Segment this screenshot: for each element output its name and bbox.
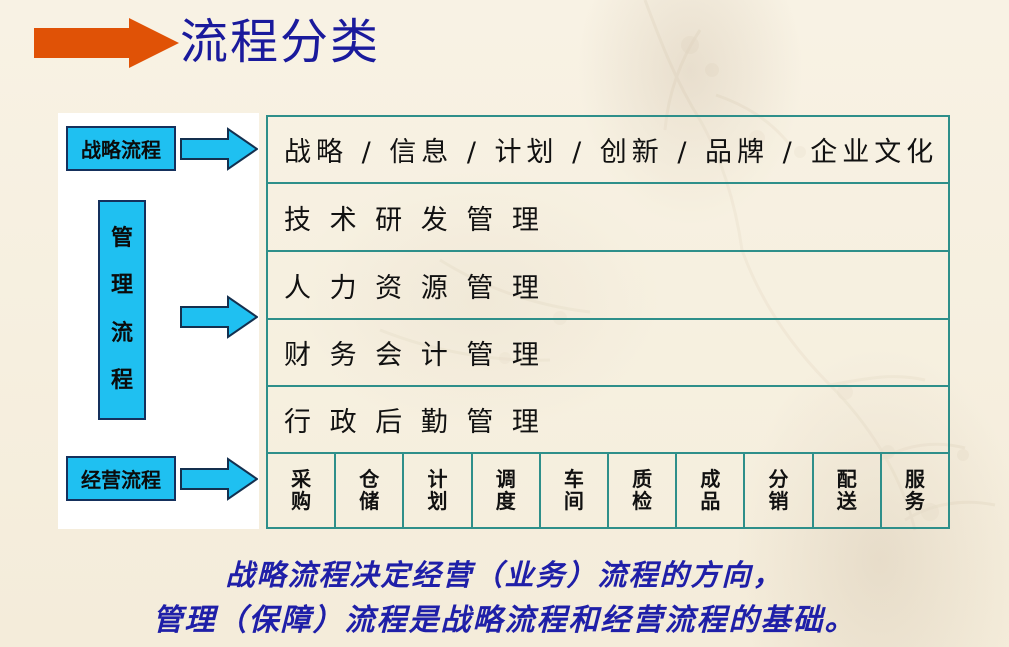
ops-cell-char-top: 车: [564, 469, 584, 491]
caption-line-2: 管理（保障）流程是战略流程和经营流程的基础。: [0, 598, 1009, 644]
ops-cell-char-bottom: 检: [632, 491, 652, 513]
ops-cell-char-bottom: 品: [700, 491, 720, 513]
ops-cell-char-bottom: 划: [428, 491, 448, 513]
ops-cell-char-bottom: 购: [291, 491, 311, 513]
table-row: 战略 / 信息 / 计划 / 创新 / 品牌 / 企业文化: [268, 117, 948, 184]
management-char-4: 程: [111, 370, 133, 392]
ops-cell-char-bottom: 间: [564, 491, 584, 513]
management-char-1: 管: [111, 228, 133, 250]
management-char-3: 流: [111, 323, 133, 345]
ops-cell-char-top: 质: [632, 469, 652, 491]
ops-cell-char-top: 服: [905, 469, 925, 491]
management-char-2: 理: [111, 275, 133, 297]
table-row: 技 术 研 发 管 理: [268, 184, 948, 252]
table-row-label: 财 务 会 计 管 理: [284, 333, 544, 372]
ops-cell-char-bottom: 销: [769, 491, 789, 513]
slide-caption: 战略流程决定经营（业务）流程的方向， 管理（保障）流程是战略流程和经营流程的基础…: [0, 552, 1009, 644]
table-row-label: 人 力 资 源 管 理: [284, 266, 544, 305]
strategy-right-arrow-icon: [180, 127, 258, 171]
ops-cell-char-top: 调: [496, 469, 516, 491]
ops-cell[interactable]: 采 购: [268, 454, 336, 527]
caption-line-1: 战略流程决定经营（业务）流程的方向，: [0, 552, 1009, 598]
table-row-label: 战略 / 信息 / 计划 / 创新 / 品牌 / 企业文化: [284, 130, 938, 169]
table-row: 人 力 资 源 管 理: [268, 252, 948, 320]
ops-cell[interactable]: 配 送: [814, 454, 882, 527]
table-row-label: 技 术 研 发 管 理: [284, 198, 544, 237]
ops-cell-char-top: 计: [428, 469, 448, 491]
ops-cell[interactable]: 仓 储: [336, 454, 404, 527]
process-table: 战略 / 信息 / 计划 / 创新 / 品牌 / 企业文化 技 术 研 发 管 …: [266, 115, 950, 529]
strategy-process-box[interactable]: 战略流程: [66, 126, 176, 171]
ops-cell[interactable]: 调 度: [473, 454, 541, 527]
management-right-arrow-icon: [180, 295, 258, 339]
table-row: 行 政 后 勤 管 理: [268, 387, 948, 454]
ops-cell-char-bottom: 储: [359, 491, 379, 513]
table-row-label: 行 政 后 勤 管 理: [284, 400, 544, 439]
ops-cell[interactable]: 服 务: [882, 454, 948, 527]
page-title: 流程分类: [180, 5, 380, 79]
management-process-box[interactable]: 管 理 流 程: [98, 200, 146, 420]
orange-right-arrow-icon: [34, 18, 179, 68]
business-right-arrow-icon: [180, 457, 258, 501]
slide-header: 流程分类: [0, 0, 1009, 92]
ops-cell[interactable]: 车 间: [541, 454, 609, 527]
table-row: 财 务 会 计 管 理: [268, 320, 948, 387]
ops-cell[interactable]: 成 品: [677, 454, 745, 527]
ops-cell-char-top: 分: [769, 469, 789, 491]
ops-cell[interactable]: 质 检: [609, 454, 677, 527]
ops-cell-char-bottom: 送: [837, 491, 857, 513]
ops-cell-char-bottom: 度: [496, 491, 516, 513]
operations-row: 采 购 仓 储 计 划 调 度 车 间 质 检: [268, 454, 948, 527]
ops-cell[interactable]: 计 划: [404, 454, 472, 527]
ops-cell-char-bottom: 务: [905, 491, 925, 513]
business-process-box[interactable]: 经营流程: [66, 456, 176, 501]
ops-cell[interactable]: 分 销: [745, 454, 813, 527]
slide-canvas: 流程分类 战略流程 管 理 流 程 经营流程 战略 / 信息 / 计划 / 创新…: [0, 0, 1009, 647]
ops-cell-char-top: 仓: [359, 469, 379, 491]
ops-cell-char-top: 配: [837, 469, 857, 491]
ops-cell-char-top: 成: [700, 469, 720, 491]
ops-cell-char-top: 采: [291, 469, 311, 491]
